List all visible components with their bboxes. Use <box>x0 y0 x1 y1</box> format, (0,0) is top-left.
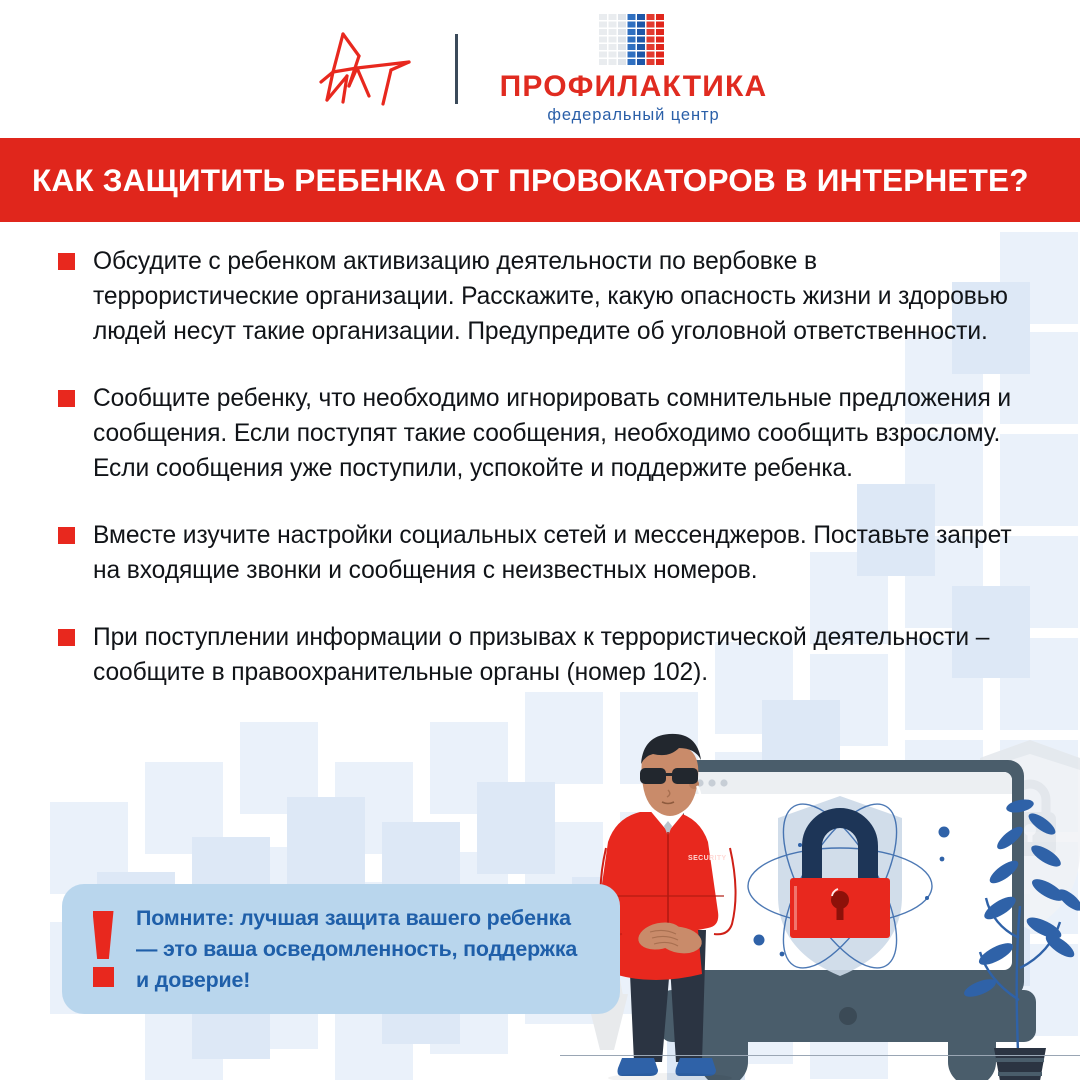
list-item: При поступлении информации о призывах к … <box>58 620 1018 690</box>
guard-hands <box>636 919 704 957</box>
list-item: Обсудите с ребенком активизацию деятельн… <box>58 244 1018 349</box>
poster-root: ПРОФИЛАКТИКА федеральный центр КАК ЗАЩИТ… <box>0 0 1080 1080</box>
window-dot-icon <box>696 779 703 786</box>
window-dot-icon <box>708 779 715 786</box>
atom-particles <box>754 827 950 957</box>
brand-subtitle: федеральный центр <box>547 107 719 124</box>
plant-leaves <box>962 797 1080 1000</box>
desktop-monitor <box>660 760 1036 1080</box>
window-dot-icon <box>720 779 727 786</box>
chair-logo-icon <box>313 26 421 112</box>
page-title: КАК ЗАЩИТИТЬ РЕБЕНКА ОТ ПРОВОКАТОРОВ В И… <box>0 162 1029 199</box>
guard-sunglasses <box>640 768 698 784</box>
monitor-power-button <box>839 1007 857 1025</box>
list-item: Вместе изучите настройки социальных сете… <box>58 518 1018 588</box>
guard-head <box>642 743 699 816</box>
guard-shoe <box>676 1058 717 1076</box>
advice-list: Обсудите с ребенком активизацию деятельн… <box>58 244 1018 722</box>
pixel-flag-icon <box>599 14 669 66</box>
list-item-text: Обсудите с ребенком активизацию деятельн… <box>93 244 1018 349</box>
bullet-square-icon <box>58 629 75 646</box>
exclamation-mark-icon <box>90 911 116 987</box>
brand-header: ПРОФИЛАКТИКА федеральный центр <box>0 0 1080 138</box>
title-band: КАК ЗАЩИТИТЬ РЕБЕНКА ОТ ПРОВОКАТОРОВ В И… <box>0 138 1080 222</box>
brand-lockup: ПРОФИЛАКТИКА федеральный центр <box>500 14 768 124</box>
bullet-square-icon <box>58 253 75 270</box>
guard-hair <box>641 734 701 764</box>
logo-divider <box>455 34 458 104</box>
atom-orbits <box>748 787 932 984</box>
floor-line <box>560 1055 1080 1056</box>
guard-trousers <box>628 930 706 1062</box>
potted-plant <box>962 797 1080 1080</box>
background-shield-icon <box>980 740 1080 930</box>
reminder-callout: Помните: лучшая защита вашего ребенка — … <box>62 884 620 1014</box>
guard-earpiece <box>697 786 701 812</box>
plant-pot <box>994 1048 1046 1080</box>
guard-badge-label: SECURITY <box>688 855 727 862</box>
list-item: Сообщите ребенку, что необходимо игнорир… <box>58 381 1018 486</box>
padlock-icon <box>790 818 890 938</box>
list-item-text: Сообщите ребенку, что необходимо игнорир… <box>93 381 1018 486</box>
shield-icon <box>778 796 902 976</box>
bullet-square-icon <box>58 527 75 544</box>
guard-tie <box>664 821 672 836</box>
guard-shirt <box>648 802 688 832</box>
reminder-callout-text: Помните: лучшая защита вашего ребенка — … <box>136 903 594 996</box>
list-item-text: Вместе изучите настройки социальных сете… <box>93 518 1018 588</box>
list-item-text: При поступлении информации о призывах к … <box>93 620 1018 690</box>
brand-wordmark: ПРОФИЛАКТИКА <box>500 72 768 102</box>
bullet-square-icon <box>58 390 75 407</box>
guard-shoe <box>618 1058 659 1076</box>
